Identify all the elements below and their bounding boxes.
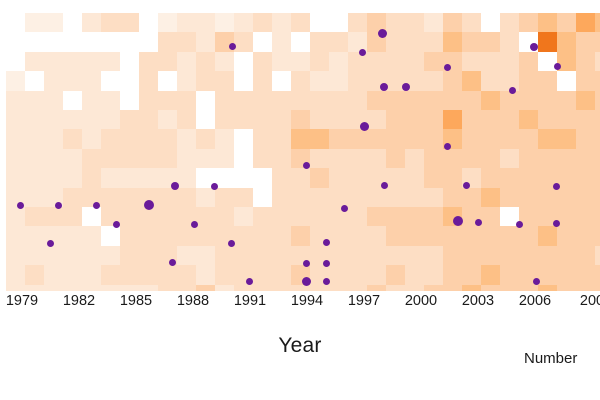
heatmap-cell (25, 91, 44, 110)
heatmap-cell (25, 207, 44, 226)
heatmap-cell (329, 246, 348, 265)
heatmap-cell (557, 168, 576, 187)
heatmap-cell (519, 110, 538, 129)
heatmap-cell (25, 226, 44, 245)
heatmap-cell (44, 91, 63, 110)
scatter-point (553, 220, 560, 227)
x-tick-label: 1988 (177, 293, 209, 309)
scatter-point (341, 205, 348, 212)
x-tick-label: 2000 (405, 293, 437, 309)
heatmap-cell (234, 226, 253, 245)
heatmap-cell (63, 168, 82, 187)
heatmap-cell (177, 129, 196, 148)
scatter-point (169, 259, 176, 266)
scatter-point (360, 122, 369, 131)
heatmap-cell (424, 71, 443, 90)
heatmap-cell (196, 188, 215, 207)
scatter-point (444, 143, 451, 150)
heatmap-cell (44, 265, 63, 284)
heatmap-cell (576, 149, 595, 168)
heatmap-cell (348, 188, 367, 207)
scatter-point (191, 221, 198, 228)
scatter-point (378, 29, 387, 38)
heatmap-cell (329, 168, 348, 187)
heatmap-cell (120, 129, 139, 148)
heatmap-cell (462, 265, 481, 284)
heatmap-cell (82, 110, 101, 129)
heatmap-cell (595, 188, 600, 207)
heatmap-cell (196, 149, 215, 168)
heatmap-cell (595, 129, 600, 148)
heatmap-cell (481, 188, 500, 207)
heatmap-cell (443, 188, 462, 207)
scatter-point (228, 240, 235, 247)
heatmap-cell (310, 149, 329, 168)
heatmap-cell (101, 91, 120, 110)
heatmap-cell (576, 265, 595, 284)
heatmap-cell (481, 32, 500, 51)
heatmap-cell (348, 149, 367, 168)
heatmap-cell (177, 188, 196, 207)
heatmap-cell (576, 226, 595, 245)
heatmap-cell (386, 91, 405, 110)
heatmap-cell (538, 71, 557, 90)
heatmap-cell (405, 52, 424, 71)
heatmap-cell (177, 32, 196, 51)
scatter-point (47, 240, 54, 247)
heatmap-cell (253, 207, 272, 226)
heatmap-cell (101, 265, 120, 284)
heatmap-cell (196, 13, 215, 32)
heatmap-cell (576, 207, 595, 226)
heatmap-cell (462, 91, 481, 110)
x-tick-label: 1991 (234, 293, 266, 309)
heatmap-cell (234, 207, 253, 226)
heatmap-cell (557, 265, 576, 284)
heatmap-cell (310, 129, 329, 148)
heatmap-cell (443, 71, 462, 90)
heatmap-cell (462, 188, 481, 207)
heatmap-cell (538, 265, 557, 284)
scatter-point (453, 216, 463, 226)
heatmap-cell (329, 226, 348, 245)
heatmap-cell (595, 226, 600, 245)
heatmap-cell (576, 129, 595, 148)
heatmap-cell (424, 188, 443, 207)
heatmap-cell (386, 265, 405, 284)
heatmap-cell (215, 91, 234, 110)
heatmap-cell (443, 149, 462, 168)
heatmap-cell (158, 91, 177, 110)
heatmap-cell (424, 129, 443, 148)
heatmap-cell (196, 52, 215, 71)
heatmap-cell (63, 52, 82, 71)
heatmap-cell (386, 110, 405, 129)
heatmap-cell (63, 207, 82, 226)
heatmap-cell (120, 265, 139, 284)
heatmap-cell (310, 168, 329, 187)
scatter-point (402, 83, 410, 91)
heatmap-cell (557, 13, 576, 32)
heatmap-cell (481, 91, 500, 110)
scatter-point (516, 221, 523, 228)
heatmap-cell (253, 91, 272, 110)
heatmap-cell (272, 129, 291, 148)
heatmap-cell (500, 129, 519, 148)
heatmap-cell (538, 13, 557, 32)
heatmap-cell (557, 110, 576, 129)
heatmap-cell (329, 149, 348, 168)
heatmap-cell (348, 91, 367, 110)
heatmap-cell (519, 52, 538, 71)
heatmap-cell (500, 32, 519, 51)
heatmap-cell (44, 207, 63, 226)
heatmap-cell (595, 32, 600, 51)
heatmap-cell (120, 149, 139, 168)
scatter-point (303, 162, 310, 169)
heatmap-cell (367, 91, 386, 110)
scatter-point (93, 202, 100, 209)
heatmap-cell (25, 246, 44, 265)
heatmap-cell (576, 168, 595, 187)
heatmap-cell (6, 71, 25, 90)
scatter-point (17, 202, 24, 209)
scatter-point (380, 83, 388, 91)
heatmap-cell (215, 129, 234, 148)
heatmap-cell (500, 52, 519, 71)
heatmap-cell (44, 168, 63, 187)
scatter-point (444, 64, 451, 71)
heatmap-cell (519, 91, 538, 110)
heatmap-cell (139, 71, 158, 90)
heatmap-cell (6, 226, 25, 245)
heatmap-cell (462, 246, 481, 265)
heatmap-cell (348, 207, 367, 226)
heatmap-cell (272, 149, 291, 168)
heatmap-cell (481, 207, 500, 226)
heatmap-cell (177, 265, 196, 284)
heatmap-cell (386, 188, 405, 207)
heatmap-cell (576, 188, 595, 207)
heatmap-cell (196, 226, 215, 245)
heatmap-cell (6, 246, 25, 265)
heatmap-cell (215, 188, 234, 207)
heatmap-cell (310, 91, 329, 110)
heatmap-cell (405, 188, 424, 207)
heatmap-cell (443, 168, 462, 187)
heatmap-cell (139, 129, 158, 148)
heatmap-cell (177, 91, 196, 110)
heatmap-cell (215, 110, 234, 129)
heatmap-cell (291, 110, 310, 129)
heatmap-cell (386, 149, 405, 168)
heatmap-cell (253, 129, 272, 148)
heatmap-cell (329, 71, 348, 90)
heatmap-cell (405, 13, 424, 32)
heatmap-cell (6, 110, 25, 129)
heatmap-cell (120, 13, 139, 32)
heatmap-cell (367, 265, 386, 284)
heatmap-cell (253, 110, 272, 129)
heatmap-cell (519, 188, 538, 207)
scatter-point (113, 221, 120, 228)
heatmap-cell (405, 168, 424, 187)
heatmap-cell (595, 246, 600, 265)
heatmap-cell (272, 246, 291, 265)
heatmap-cell (367, 207, 386, 226)
scatter-point (246, 278, 253, 285)
heatmap-cell (158, 13, 177, 32)
heatmap-cell (158, 129, 177, 148)
heatmap-cell (101, 246, 120, 265)
heatmap-cell (82, 71, 101, 90)
scatter-point (171, 182, 179, 190)
heatmap-cell (576, 110, 595, 129)
heatmap-cell (424, 168, 443, 187)
x-tick-label: 1994 (291, 293, 323, 309)
heatmap-cell (139, 110, 158, 129)
heatmap-cell (538, 226, 557, 245)
heatmap-cell (82, 246, 101, 265)
heatmap-cell (234, 32, 253, 51)
heatmap-cell (44, 110, 63, 129)
heatmap-cell (82, 226, 101, 245)
heatmap-cell (63, 246, 82, 265)
heatmap-cell (63, 71, 82, 90)
x-tick-label: 1985 (120, 293, 152, 309)
heatmap-cell (291, 207, 310, 226)
heatmap-cell (6, 149, 25, 168)
heatmap-cell (386, 13, 405, 32)
heatmap-cell (557, 129, 576, 148)
heatmap-cell (120, 207, 139, 226)
heatmap-cell (158, 32, 177, 51)
heatmap-cell (139, 168, 158, 187)
heatmap-cell (595, 265, 600, 284)
heatmap-cell (367, 246, 386, 265)
heatmap-cell (424, 32, 443, 51)
heatmap-cell (405, 207, 424, 226)
heatmap-cell (234, 13, 253, 32)
heatmap-cell (576, 32, 595, 51)
heatmap-cell (310, 32, 329, 51)
heatmap-cell (386, 32, 405, 51)
heatmap-cell (576, 52, 595, 71)
heatmap-cell (500, 13, 519, 32)
heatmap-cell (25, 13, 44, 32)
heatmap-cell (443, 32, 462, 51)
heatmap-cell (177, 52, 196, 71)
heatmap-cell (481, 226, 500, 245)
heatmap-cell (63, 149, 82, 168)
heatmap-cell (291, 226, 310, 245)
heatmap-cell (481, 246, 500, 265)
heatmap-cell (120, 188, 139, 207)
heatmap-cell (82, 52, 101, 71)
heatmap-cell (348, 168, 367, 187)
scatter-point (530, 43, 538, 51)
scatter-point (323, 278, 330, 285)
heatmap-cell (120, 168, 139, 187)
scatter-point (302, 277, 311, 286)
heatmap-cell (82, 91, 101, 110)
heatmap-cell (101, 149, 120, 168)
heatmap-cell (310, 110, 329, 129)
scatter-point (144, 200, 154, 210)
heatmap-cell (272, 13, 291, 32)
heatmap-cell (291, 52, 310, 71)
heatmap-cell (234, 246, 253, 265)
heatmap-cell (177, 168, 196, 187)
heatmap-cell (291, 129, 310, 148)
heatmap-cell (253, 52, 272, 71)
heatmap-cell (272, 207, 291, 226)
heatmap-cell (6, 91, 25, 110)
heatmap-cell (196, 207, 215, 226)
heatmap-cell (291, 188, 310, 207)
heatmap-cell (44, 149, 63, 168)
heatmap-cell (557, 91, 576, 110)
heatmap-cell (405, 265, 424, 284)
heatmap-cell (101, 168, 120, 187)
heatmap-cell (120, 110, 139, 129)
heatmap-cell (519, 129, 538, 148)
scatter-point (303, 260, 310, 267)
heatmap-cell (253, 226, 272, 245)
heatmap-cell (462, 52, 481, 71)
heatmap-cell (329, 129, 348, 148)
heatmap-cell (234, 91, 253, 110)
x-tick-label: 200 (580, 293, 600, 309)
heatmap-cell (158, 188, 177, 207)
heatmap-cell (538, 91, 557, 110)
heatmap-cell (367, 149, 386, 168)
x-axis-title: Year (0, 334, 600, 358)
heatmap-cell (101, 129, 120, 148)
heatmap-cell (405, 110, 424, 129)
heatmap-cell (538, 110, 557, 129)
heatmap-cell (405, 246, 424, 265)
heatmap-cell (253, 13, 272, 32)
heatmap-cell (500, 226, 519, 245)
heatmap-cell (538, 188, 557, 207)
heatmap-cell (595, 91, 600, 110)
heatmap-cell (538, 129, 557, 148)
heatmap-cell (6, 265, 25, 284)
heatmap-cell (367, 52, 386, 71)
heatmap-cell (348, 13, 367, 32)
heatmap-cell (329, 110, 348, 129)
heatmap-cell (481, 71, 500, 90)
heatmap-cell (462, 149, 481, 168)
heatmap-cell (519, 13, 538, 32)
heatmap-cell (424, 52, 443, 71)
heatmap-cell (367, 129, 386, 148)
heatmap-cell (576, 71, 595, 90)
heatmap-cell (158, 226, 177, 245)
legend-title: Number (524, 350, 577, 367)
heatmap-cell (443, 91, 462, 110)
heatmap-cell (519, 71, 538, 90)
heatmap-cell (63, 129, 82, 148)
scatter-point (475, 219, 482, 226)
scatter-point (554, 63, 561, 70)
heatmap-cell (177, 226, 196, 245)
heatmap-cell (595, 168, 600, 187)
heatmap-cell (120, 246, 139, 265)
heatmap-cell (139, 246, 158, 265)
scatter-point (323, 260, 330, 267)
heatmap-cell (44, 13, 63, 32)
heatmap-cell (253, 265, 272, 284)
heatmap-cell (595, 71, 600, 90)
heatmap-cell (500, 168, 519, 187)
heatmap-cell (481, 168, 500, 187)
heatmap-cell (500, 265, 519, 284)
heatmap-cell (82, 129, 101, 148)
heatmap-cell (424, 149, 443, 168)
heatmap-cell (443, 13, 462, 32)
scatter-point (55, 202, 62, 209)
heatmap-cell (25, 129, 44, 148)
scatter-point (463, 182, 470, 189)
heatmap-cell (595, 52, 600, 71)
heatmap-cell (158, 207, 177, 226)
heatmap-cell (272, 188, 291, 207)
heatmap-cell (63, 188, 82, 207)
x-tick-label: 1997 (348, 293, 380, 309)
heatmap-cell (196, 32, 215, 51)
scatter-point (359, 49, 366, 56)
heatmap-cell (272, 226, 291, 245)
heatmap-cell (234, 188, 253, 207)
heatmap-cell (291, 13, 310, 32)
heatmap-cell (519, 168, 538, 187)
heatmap-cell (6, 129, 25, 148)
heatmap-cell (44, 129, 63, 148)
heatmap-cell (557, 207, 576, 226)
heatmap-cell (272, 91, 291, 110)
heatmap-cell (177, 149, 196, 168)
heatmap-cell (82, 149, 101, 168)
heatmap-cell (405, 129, 424, 148)
heatmap-cell (158, 149, 177, 168)
heatmap-cell (500, 188, 519, 207)
heatmap-cell (44, 71, 63, 90)
scatter-point (211, 183, 218, 190)
heatmap-cell (253, 246, 272, 265)
heatmap-cell (595, 13, 600, 32)
heatmap-cell (82, 13, 101, 32)
heatmap-cell (215, 149, 234, 168)
heatmap-cell (500, 91, 519, 110)
heatmap-cell (25, 265, 44, 284)
heatmap-cell (462, 110, 481, 129)
heatmap-cell (424, 246, 443, 265)
heatmap-cell (367, 110, 386, 129)
heatmap-cell (462, 226, 481, 245)
heatmap-cell (576, 246, 595, 265)
heatmap-cell (310, 188, 329, 207)
heatmap-cell (177, 71, 196, 90)
heatmap-cell (101, 13, 120, 32)
heatmap-cell (386, 129, 405, 148)
heatmap-cell (177, 246, 196, 265)
heatmap-cell (443, 226, 462, 245)
heatmap-cell (405, 32, 424, 51)
heatmap-cell (424, 207, 443, 226)
heatmap-cell (538, 149, 557, 168)
